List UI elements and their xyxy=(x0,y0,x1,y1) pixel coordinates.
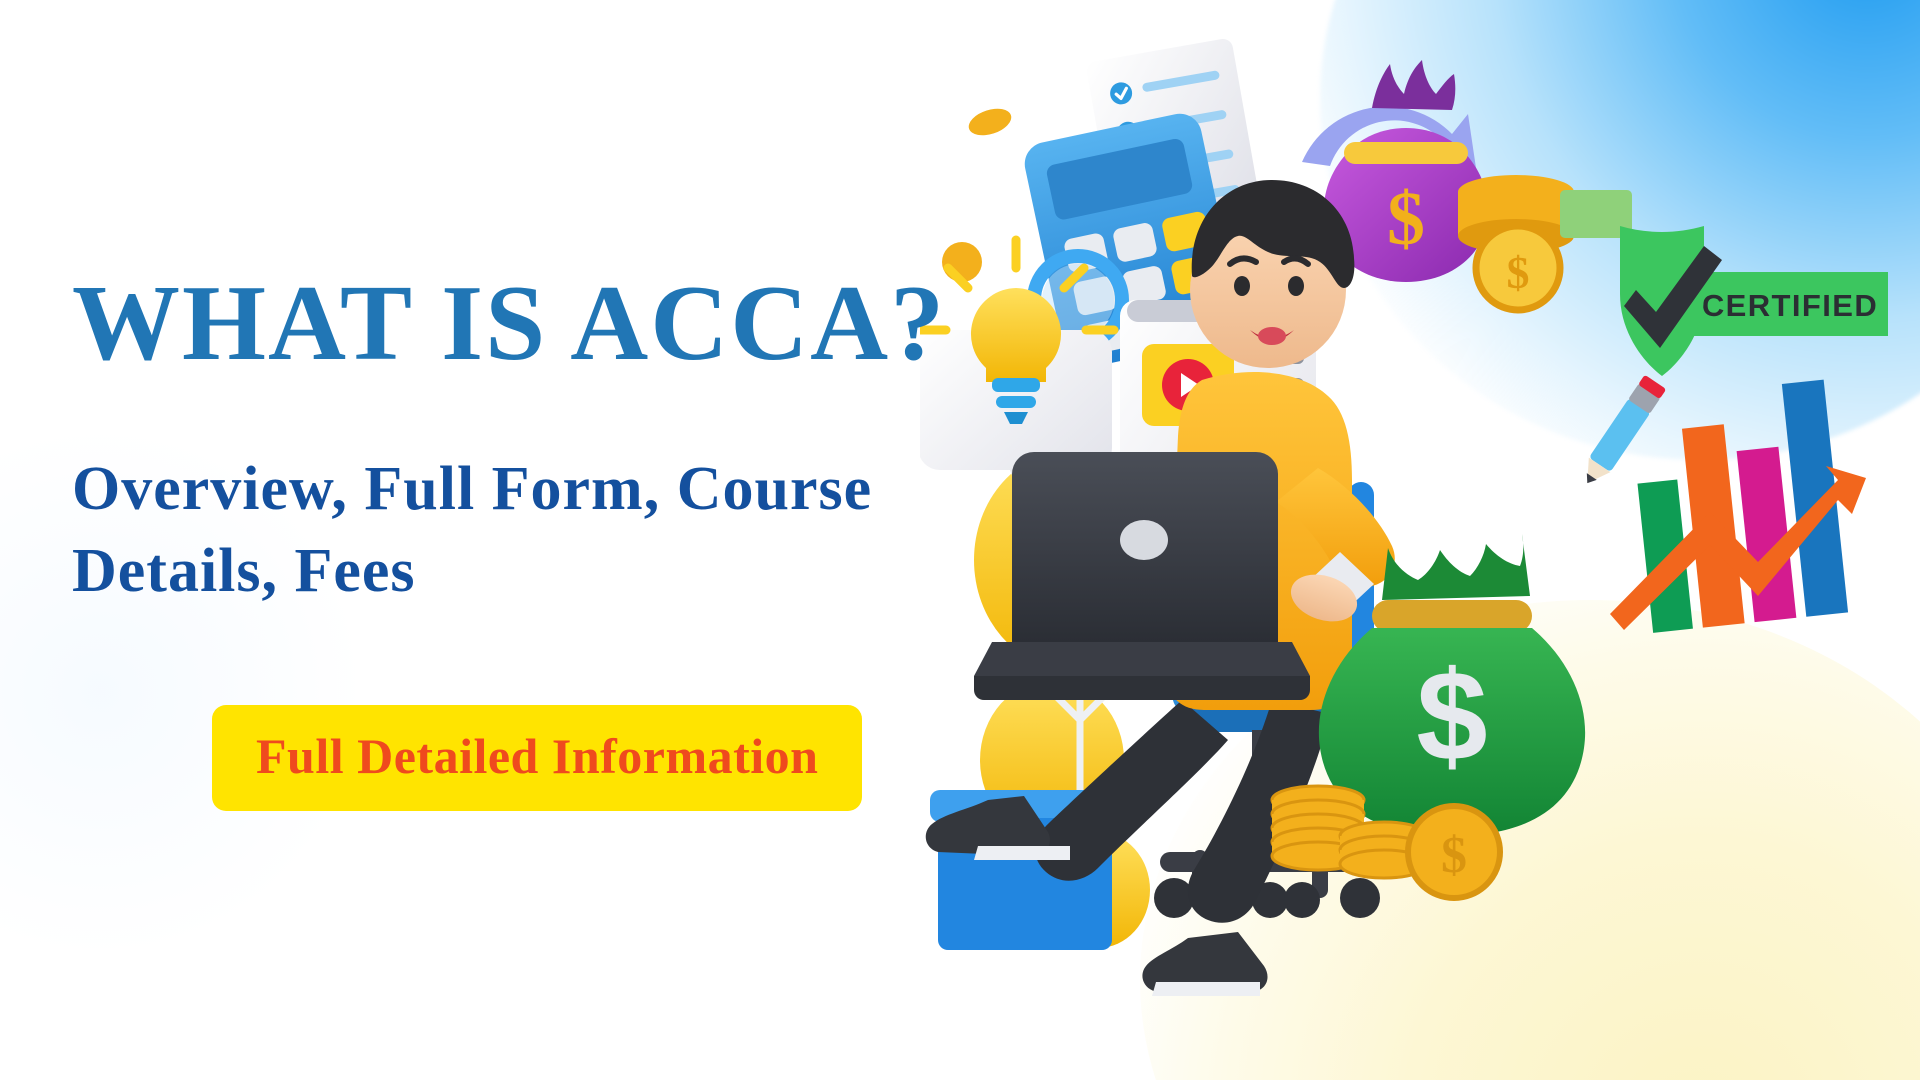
cta-row: Full Detailed Information xyxy=(72,705,1060,811)
full-detailed-information-button[interactable]: Full Detailed Information xyxy=(212,705,862,811)
svg-text:$: $ xyxy=(1507,247,1530,298)
certified-badge-label: CERTIFIED xyxy=(1702,288,1878,323)
page-subtitle: Overview, Full Form, Course Details, Fee… xyxy=(72,449,1060,613)
svg-text:$: $ xyxy=(1441,827,1467,884)
bar-chart-growth-icon xyxy=(1577,375,1866,633)
svg-text:$: $ xyxy=(1387,177,1425,261)
svg-text:$: $ xyxy=(1416,645,1487,788)
page-title: WHAT IS ACCA? xyxy=(72,269,1060,379)
banner-text-column: WHAT IS ACCA? Overview, Full Form, Cours… xyxy=(0,0,1120,1080)
certified-shield-icon[interactable]: CERTIFIED xyxy=(1620,226,1888,376)
